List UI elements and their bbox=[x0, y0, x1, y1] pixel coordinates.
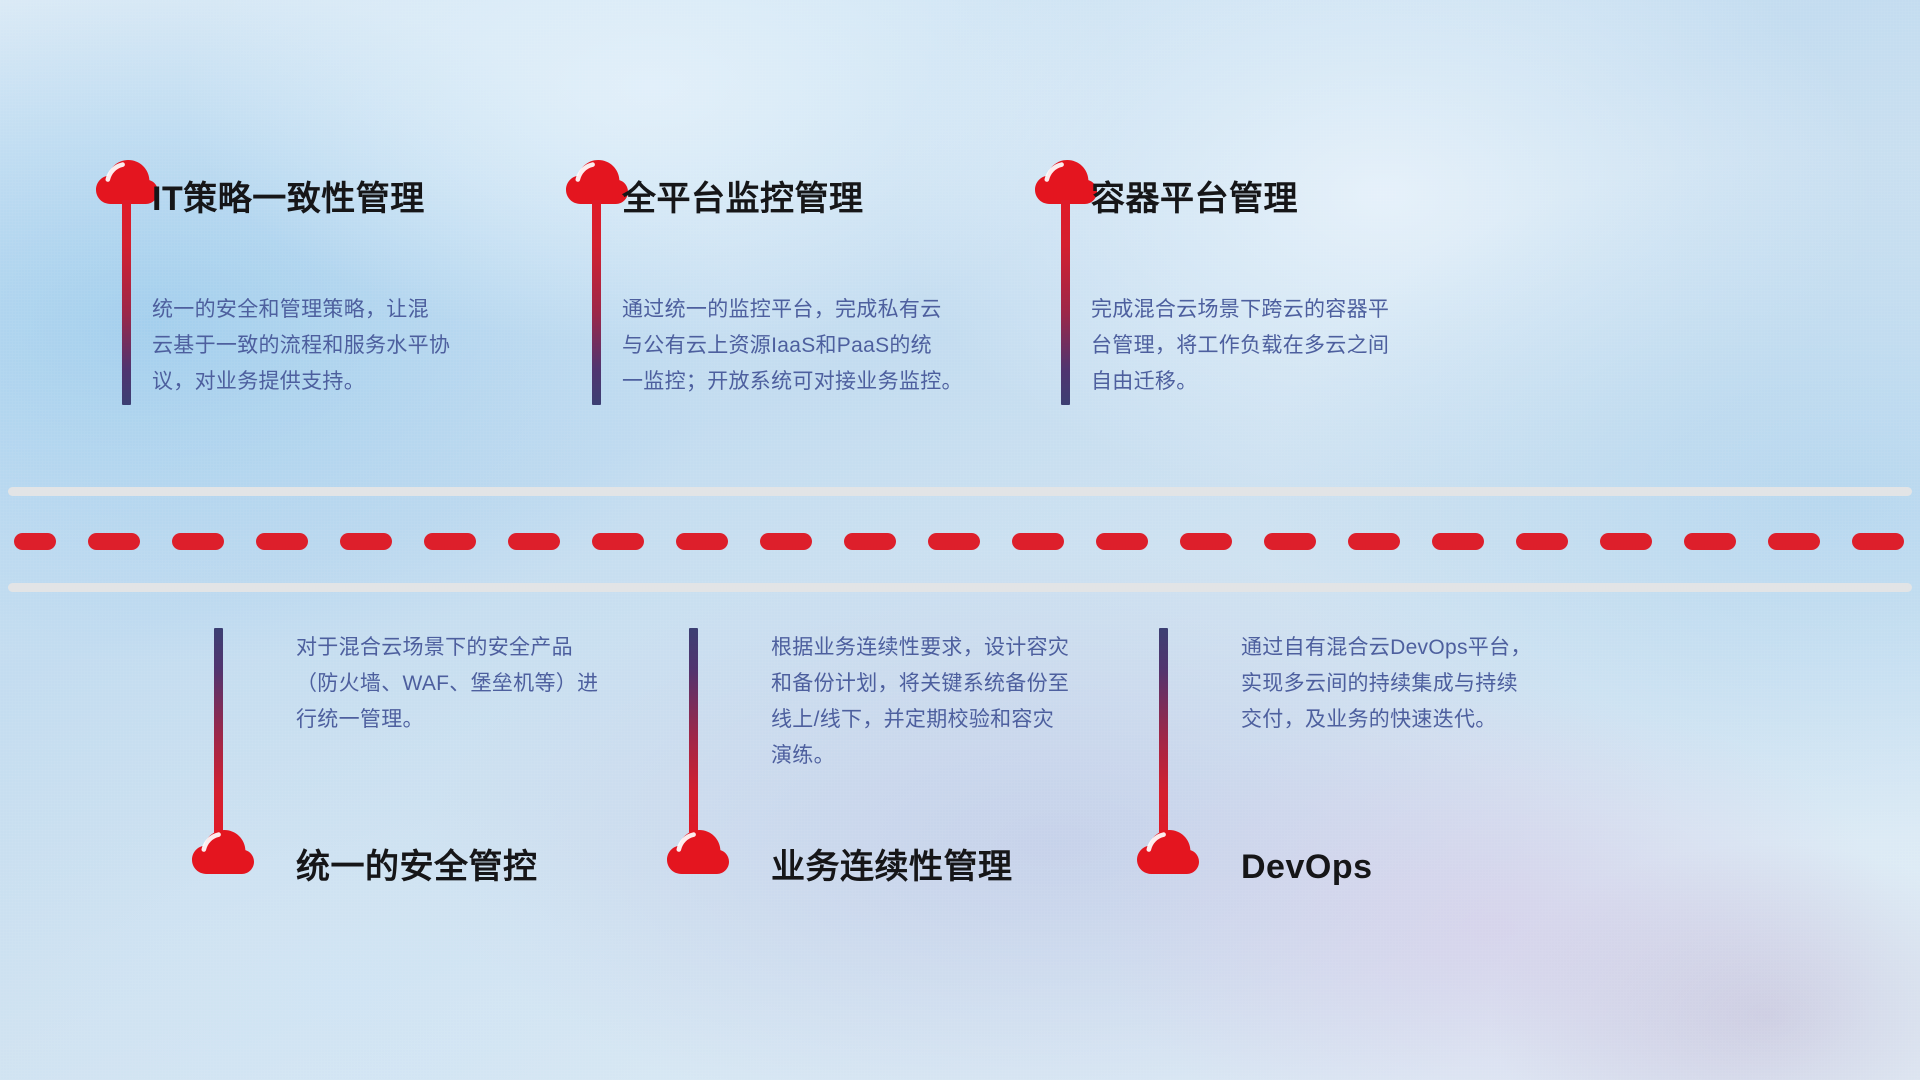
body-line: 通过自有混合云DevOps平台， bbox=[1241, 630, 1661, 666]
top-column-3-heading: 容器平台管理 bbox=[1091, 182, 1298, 216]
bottom-column-2-body: 根据业务连续性要求，设计容灾 和备份计划，将关键系统备份至 线上/线下，并定期校… bbox=[771, 630, 1191, 774]
top-column-2-heading: 全平台监控管理 bbox=[622, 182, 864, 216]
body-line: 线上/线下，并定期校验和容灾 bbox=[771, 702, 1191, 738]
body-line: 和备份计划，将关键系统备份至 bbox=[771, 666, 1191, 702]
dash bbox=[256, 533, 308, 550]
dash bbox=[14, 533, 56, 550]
body-line: 根据业务连续性要求，设计容灾 bbox=[771, 630, 1191, 666]
body-line: 自由迁移。 bbox=[1091, 364, 1501, 400]
connector-stem bbox=[122, 200, 131, 405]
body-line: 演练。 bbox=[771, 738, 1191, 774]
dash bbox=[340, 533, 392, 550]
dash bbox=[1684, 533, 1736, 550]
red-dashed-divider bbox=[0, 533, 1920, 550]
cloud-icon bbox=[1137, 830, 1199, 876]
body-line: 议，对业务提供支持。 bbox=[152, 364, 552, 400]
body-line: 云基于一致的流程和服务水平协 bbox=[152, 328, 552, 364]
body-line: 台管理，将工作负载在多云之间 bbox=[1091, 328, 1501, 364]
body-line: 实现多云间的持续集成与持续 bbox=[1241, 666, 1661, 702]
divider-rule-top bbox=[8, 487, 1912, 496]
bottom-column-3-heading: DevOps bbox=[1241, 850, 1373, 884]
body-line: 一监控；开放系统可对接业务监控。 bbox=[622, 364, 1042, 400]
top-column-1-heading: IT策略一致性管理 bbox=[152, 182, 425, 216]
body-line: 对于混合云场景下的安全产品 bbox=[296, 630, 716, 666]
dash bbox=[928, 533, 980, 550]
center-divider bbox=[0, 487, 1920, 607]
top-column-1-body: 统一的安全和管理策略，让混 云基于一致的流程和服务水平协 议，对业务提供支持。 bbox=[152, 292, 552, 400]
connector-stem bbox=[689, 628, 698, 833]
connector-stem bbox=[1061, 200, 1070, 405]
dash bbox=[1348, 533, 1400, 550]
dash bbox=[844, 533, 896, 550]
cloud-icon bbox=[192, 830, 254, 876]
divider-rule-bottom bbox=[8, 583, 1912, 592]
dash bbox=[508, 533, 560, 550]
body-line: （防火墙、WAF、堡垒机等）进 bbox=[296, 666, 716, 702]
dash bbox=[172, 533, 224, 550]
bottom-column-1-body: 对于混合云场景下的安全产品 （防火墙、WAF、堡垒机等）进 行统一管理。 bbox=[296, 630, 716, 738]
dash bbox=[1768, 533, 1820, 550]
body-line: 行统一管理。 bbox=[296, 702, 716, 738]
dash bbox=[1852, 533, 1904, 550]
cloud-icon bbox=[667, 830, 729, 876]
dash bbox=[1012, 533, 1064, 550]
dash bbox=[1264, 533, 1316, 550]
body-line: 完成混合云场景下跨云的容器平 bbox=[1091, 292, 1501, 328]
connector-stem bbox=[214, 628, 223, 833]
dash bbox=[88, 533, 140, 550]
dash bbox=[1180, 533, 1232, 550]
dash bbox=[1096, 533, 1148, 550]
body-line: 与公有云上资源IaaS和PaaS的统 bbox=[622, 328, 1042, 364]
dash bbox=[1516, 533, 1568, 550]
connector-stem bbox=[1159, 628, 1168, 833]
dash bbox=[1432, 533, 1484, 550]
top-column-3-body: 完成混合云场景下跨云的容器平 台管理，将工作负载在多云之间 自由迁移。 bbox=[1091, 292, 1501, 400]
dash bbox=[424, 533, 476, 550]
bottom-column-1-heading: 统一的安全管控 bbox=[296, 850, 538, 884]
connector-stem bbox=[592, 200, 601, 405]
infographic-canvas: IT策略一致性管理 统一的安全和管理策略，让混 云基于一致的流程和服务水平协 议… bbox=[0, 0, 1920, 1080]
body-line: 统一的安全和管理策略，让混 bbox=[152, 292, 552, 328]
top-column-2-body: 通过统一的监控平台，完成私有云 与公有云上资源IaaS和PaaS的统 一监控；开… bbox=[622, 292, 1042, 400]
body-line: 交付，及业务的快速迭代。 bbox=[1241, 702, 1661, 738]
dash bbox=[592, 533, 644, 550]
body-line: 通过统一的监控平台，完成私有云 bbox=[622, 292, 1042, 328]
dash bbox=[676, 533, 728, 550]
bottom-column-2-heading: 业务连续性管理 bbox=[771, 850, 1013, 884]
dash bbox=[760, 533, 812, 550]
dash bbox=[1600, 533, 1652, 550]
bottom-column-3-body: 通过自有混合云DevOps平台， 实现多云间的持续集成与持续 交付，及业务的快速… bbox=[1241, 630, 1661, 738]
